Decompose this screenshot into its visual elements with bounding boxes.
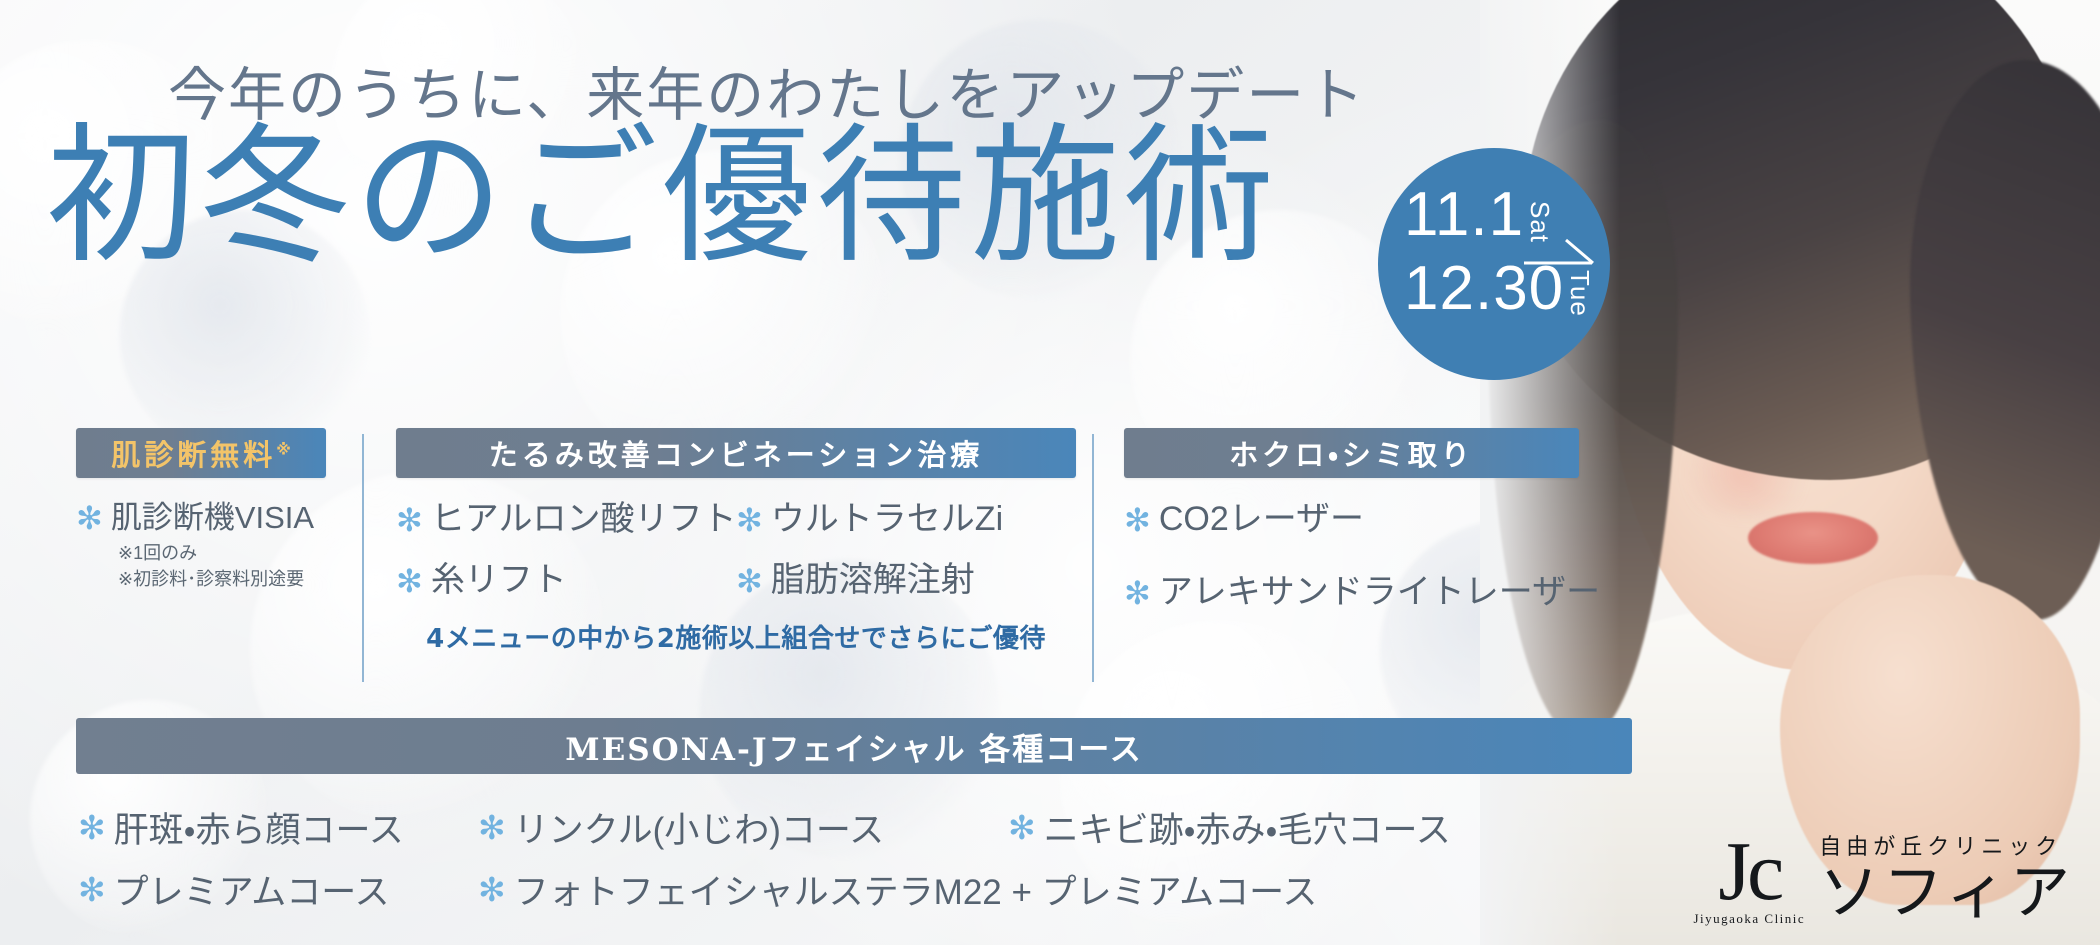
section-title: たるみ改善コンビネーション治療: [489, 432, 983, 474]
snowflake-icon: ✻: [1124, 577, 1151, 609]
mesona-course-list: ✻ 肝斑・赤ら顔コース ✻ リンクル(小じわ)コース ✻ ニキビ跡・赤み・毛穴コ…: [78, 796, 1638, 920]
course-label: ニキビ跡・赤み・毛穴コース: [1044, 802, 1451, 853]
course-label: フォトフェイシャルステラM22 + プレミアムコース: [514, 864, 1318, 915]
section-footnote: 4メニューの中から2施術以上組合せでさらにご優待: [396, 618, 1076, 655]
logo-romaji: Jiyugaoka Clinic: [1693, 911, 1805, 927]
list-item: ✻ アレキサンドライトレーザー: [1124, 573, 1579, 612]
start-date-value: 11.1: [1404, 186, 1524, 245]
item-label: ヒアルロン酸リフト: [431, 500, 737, 539]
logo-clinic-name: ソフィア: [1819, 863, 2074, 923]
snowflake-icon: ✻: [736, 504, 763, 536]
portrait-lips: [1748, 512, 1878, 564]
asterisk-mark: ※: [276, 440, 291, 458]
snowflake-icon: ✻: [1124, 504, 1151, 536]
column-divider: [362, 434, 364, 682]
end-day-of-week: Tue: [1567, 270, 1593, 319]
campaign-date-badge: 11.1 Sat 12.30 Tue: [1378, 148, 1610, 380]
note-line: ※初診料･診察料別途要: [118, 566, 326, 592]
section-header-bar: たるみ改善コンビネーション治療: [396, 428, 1076, 478]
column-divider: [1092, 434, 1094, 682]
course-row: ✻ プレミアムコース ✻ フォトフェイシャルステラM22 + プレミアムコース: [78, 858, 1638, 920]
course-label: 肝斑・赤ら顔コース: [114, 802, 404, 853]
end-date-value: 12.30: [1404, 260, 1564, 319]
list-item: ✻ 糸リフト: [396, 561, 736, 600]
snowflake-icon: ✻: [78, 811, 106, 844]
section-mole-spot-removal: ホクロ・シミ取り ✻ CO2レーザー ✻ アレキサンドライトレーザー: [1124, 428, 1579, 612]
item-label: 糸リフト: [431, 561, 567, 600]
section-items: ✻ 肌診断機VISIA ※1回のみ ※初診料･診察料別途要: [76, 478, 326, 592]
section-header-bar: ホクロ・シミ取り: [1124, 428, 1579, 478]
logo-clinic-line: 自由が丘クリニック: [1819, 829, 2074, 861]
date-end: 12.30 Tue: [1404, 260, 1593, 319]
item-label: ウルトラセルZi: [771, 500, 1003, 539]
section-sagging-combination: たるみ改善コンビネーション治療 ✻ ヒアルロン酸リフト ✻ ウルトラセルZi ✻…: [396, 428, 1076, 655]
snowflake-icon: ✻: [76, 502, 103, 534]
section-items: ✻ ヒアルロン酸リフト ✻ ウルトラセルZi ✻ 糸リフト ✻ 脂肪溶解注射: [396, 478, 1076, 655]
list-item: ✻ ヒアルロン酸リフト: [396, 500, 736, 539]
snowflake-icon: ✻: [478, 811, 506, 844]
list-item: ✻ ウルトラセルZi: [736, 500, 1076, 539]
list-item: ✻ リンクル(小じわ)コース: [478, 802, 1008, 853]
list-item: ✻ 脂肪溶解注射: [736, 561, 1076, 600]
section-skin-diagnosis: 肌診断無料※ ✻ 肌診断機VISIA ※1回のみ ※初診料･診察料別途要: [76, 428, 326, 592]
clinic-logo: Jc Jiyugaoka Clinic 自由が丘クリニック ソフィア: [1693, 829, 2074, 927]
list-item: ✻ 肌診断機VISIA: [76, 500, 326, 536]
list-item: ✻ ニキビ跡・赤み・毛穴コース: [1008, 802, 1451, 853]
treatment-sections: 肌診断無料※ ✻ 肌診断機VISIA ※1回のみ ※初診料･診察料別途要 たるみ…: [76, 428, 1632, 688]
page-title: 初冬のご優待施術: [46, 122, 1278, 275]
item-label: アレキサンドライトレーザー: [1159, 573, 1600, 612]
snowflake-icon: ✻: [396, 504, 423, 536]
snowflake-icon: ✻: [736, 565, 763, 597]
section-title: ホクロ・シミ取り: [1229, 432, 1474, 474]
course-label: プレミアムコース: [114, 864, 390, 915]
list-item: ✻ フォトフェイシャルステラM22 + プレミアムコース: [478, 864, 1317, 915]
section-header-bar: 肌診断無料※: [76, 428, 326, 478]
snowflake-icon: ✻: [1008, 811, 1036, 844]
section-title: 肌診断無料※: [111, 432, 291, 474]
mesona-title: MESONA-Jフェイシャル 各種コース: [565, 724, 1143, 769]
snowflake-icon: ✻: [396, 565, 423, 597]
logo-monogram: Jc Jiyugaoka Clinic: [1693, 838, 1805, 927]
logo-monogram-text: Jc: [1693, 838, 1805, 907]
list-item: ✻ 肝斑・赤ら顔コース: [78, 802, 478, 853]
course-label: リンクル(小じわ)コース: [514, 802, 885, 853]
snowflake-icon: ✻: [478, 873, 506, 906]
snowflake-icon: ✻: [78, 873, 106, 906]
mesona-header-bar: MESONA-Jフェイシャル 各種コース: [76, 718, 1632, 774]
course-row: ✻ 肝斑・赤ら顔コース ✻ リンクル(小じわ)コース ✻ ニキビ跡・赤み・毛穴コ…: [78, 796, 1638, 858]
section-items: ✻ CO2レーザー ✻ アレキサンドライトレーザー: [1124, 478, 1579, 612]
promo-banner: 今年のうちに、来年のわたしをアップデート 初冬のご優待施術 11.1 Sat 1…: [0, 0, 2100, 945]
list-item: ✻ CO2レーザー: [1124, 500, 1579, 539]
item-label: CO2レーザー: [1159, 500, 1364, 539]
item-label: 脂肪溶解注射: [771, 561, 975, 600]
item-label: 肌診断機VISIA: [111, 500, 314, 536]
section-notes: ※1回のみ ※初診料･診察料別途要: [76, 540, 326, 592]
list-item: ✻ プレミアムコース: [78, 864, 478, 915]
note-line: ※1回のみ: [118, 540, 326, 566]
logo-wordmark: 自由が丘クリニック ソフィア: [1819, 829, 2074, 927]
